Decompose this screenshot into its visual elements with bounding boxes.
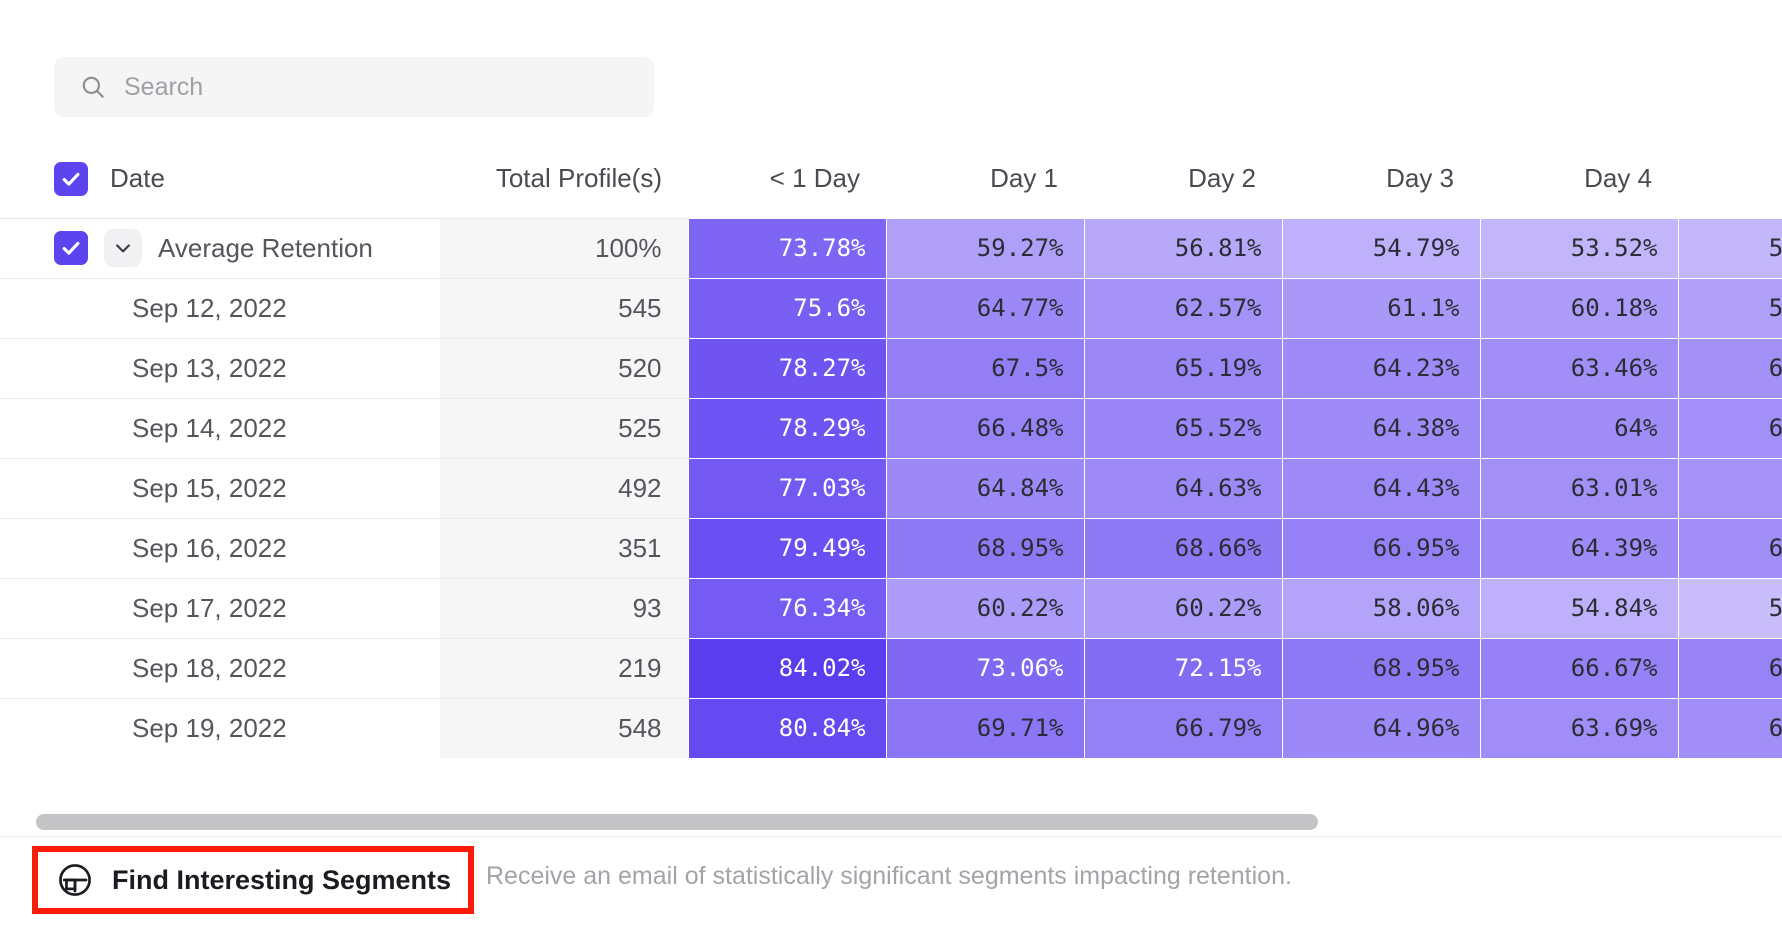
retention-cell[interactable]: 64.63%: [1084, 458, 1282, 518]
retention-table-screen: DateTotal Profile(s)< 1 DayDay 1Day 2Day…: [0, 0, 1782, 930]
table-body: Average Retention100%73.78%59.27%56.81%5…: [0, 218, 1782, 758]
select-all-checkbox[interactable]: [54, 162, 88, 196]
row-total-profiles-cell: 545: [440, 278, 688, 338]
retention-cell[interactable]: 58.06%: [1282, 578, 1480, 638]
row-total-profiles-cell: 492: [440, 458, 688, 518]
find-interesting-segments-button[interactable]: Find Interesting Segments: [56, 858, 451, 902]
retention-cell[interactable]: 64.84%: [886, 458, 1084, 518]
retention-cell[interactable]: 76.34%: [688, 578, 886, 638]
column-header-1-day[interactable]: < 1 Day: [688, 140, 886, 218]
row-date-cell: Sep 16, 2022: [0, 518, 440, 578]
retention-cell[interactable]: 73.78%: [688, 218, 886, 278]
retention-cell[interactable]: 79.49%: [688, 518, 886, 578]
retention-cell[interactable]: 61.1%: [1282, 278, 1480, 338]
find-interesting-segments-label: Find Interesting Segments: [112, 865, 451, 896]
row-total-profiles-cell: 351: [440, 518, 688, 578]
table-row[interactable]: Sep 15, 202249277.03%64.84%64.63%64.43%6…: [0, 458, 1782, 518]
retention-cell[interactable]: 54.84%: [1480, 578, 1678, 638]
retention-cell[interactable]: 64.77%: [886, 278, 1084, 338]
row-date-label: Sep 15, 2022: [54, 473, 287, 504]
row-date-label: Sep 17, 2022: [54, 593, 287, 624]
row-date-cell: Sep 19, 2022: [0, 698, 440, 758]
retention-cell[interactable]: 84.02%: [688, 638, 886, 698]
retention-cell[interactable]: 66.79%: [1084, 698, 1282, 758]
retention-cell[interactable]: 64.43%: [1282, 458, 1480, 518]
retention-cell[interactable]: 68.66%: [1084, 518, 1282, 578]
retention-cell[interactable]: 66.95%: [1282, 518, 1480, 578]
retention-cell[interactable]: 64.38%: [1282, 398, 1480, 458]
column-header-day-5[interactable]: Day 5: [1678, 140, 1782, 218]
retention-table-scroll-area[interactable]: DateTotal Profile(s)< 1 DayDay 1Day 2Day…: [0, 140, 1782, 812]
retention-cell[interactable]: 56.81%: [1084, 218, 1282, 278]
column-header-label: Date: [110, 163, 165, 194]
row-checkbox[interactable]: [54, 231, 88, 265]
row-total-profiles-cell: 93: [440, 578, 688, 638]
retention-cell[interactable]: 77.03%: [688, 458, 886, 518]
retention-cell[interactable]: 65.19%: [1084, 338, 1282, 398]
table-row[interactable]: Sep 16, 202235179.49%68.95%68.66%66.95%6…: [0, 518, 1782, 578]
column-header-day-1[interactable]: Day 1: [886, 140, 1084, 218]
table-row[interactable]: Sep 17, 20229376.34%60.22%60.22%58.06%54…: [0, 578, 1782, 638]
row-date-cell: Sep 12, 2022: [0, 278, 440, 338]
table-row[interactable]: Sep 18, 202221984.02%73.06%72.15%68.95%6…: [0, 638, 1782, 698]
row-total-profiles-cell: 548: [440, 698, 688, 758]
row-date-label: Sep 18, 2022: [54, 653, 287, 684]
row-date-label: Sep 14, 2022: [54, 413, 287, 444]
retention-cell[interactable]: 63.46%: [1480, 338, 1678, 398]
row-date-cell: Sep 13, 2022: [0, 338, 440, 398]
row-total-profiles-cell: 525: [440, 398, 688, 458]
retention-cell[interactable]: 63.32%: [1678, 698, 1782, 758]
table-row[interactable]: Sep 13, 202252078.27%67.5%65.19%64.23%63…: [0, 338, 1782, 398]
retention-cell[interactable]: 53.26%: [1678, 218, 1782, 278]
retention-cell[interactable]: 72.15%: [1084, 638, 1282, 698]
column-header-date: Date: [0, 140, 440, 218]
retention-cell[interactable]: 75.6%: [688, 278, 886, 338]
row-date-cell: Average Retention: [0, 218, 440, 278]
retention-cell[interactable]: 60.18%: [1480, 278, 1678, 338]
retention-cell[interactable]: 64.96%: [1282, 698, 1480, 758]
horizontal-scrollbar-thumb[interactable]: [36, 814, 1318, 830]
retention-cell[interactable]: 67.5%: [886, 338, 1084, 398]
row-date-label: Average Retention: [158, 233, 373, 264]
retention-cell[interactable]: 68.95%: [1282, 638, 1480, 698]
retention-cell[interactable]: 63.25%: [1678, 518, 1782, 578]
row-total-profiles-cell: 219: [440, 638, 688, 698]
chevron-down-icon[interactable]: [104, 229, 142, 267]
retention-cell[interactable]: 63.24%: [1678, 398, 1782, 458]
row-date-label: Sep 19, 2022: [54, 713, 287, 744]
footer-description: Receive an email of statistically signif…: [486, 862, 1292, 891]
table-row[interactable]: Average Retention100%73.78%59.27%56.81%5…: [0, 218, 1782, 278]
retention-cell[interactable]: 59.27%: [886, 218, 1084, 278]
column-header-day-4[interactable]: Day 4: [1480, 140, 1678, 218]
column-header-day-2[interactable]: Day 2: [1084, 140, 1282, 218]
row-date-cell: Sep 15, 2022: [0, 458, 440, 518]
retention-cell[interactable]: 73.06%: [886, 638, 1084, 698]
retention-cell[interactable]: 62.69%: [1678, 338, 1782, 398]
row-total-profiles-cell: 100%: [440, 218, 688, 278]
retention-cell[interactable]: 59.27%: [1678, 278, 1782, 338]
search-bar[interactable]: [54, 57, 654, 117]
row-date-cell: Sep 14, 2022: [0, 398, 440, 458]
table-row[interactable]: Sep 19, 202254880.84%69.71%66.79%64.96%6…: [0, 698, 1782, 758]
row-date-cell: Sep 18, 2022: [0, 638, 440, 698]
segments-icon: [56, 861, 94, 899]
retention-cell[interactable]: 60.22%: [886, 578, 1084, 638]
table-row[interactable]: Sep 14, 202252578.29%66.48%65.52%64.38%6…: [0, 398, 1782, 458]
retention-cell[interactable]: 66.67%: [1480, 638, 1678, 698]
table-header-row: DateTotal Profile(s)< 1 DayDay 1Day 2Day…: [0, 140, 1782, 218]
retention-cell[interactable]: 62.57%: [1084, 278, 1282, 338]
search-icon: [80, 74, 106, 100]
row-date-cell: Sep 17, 2022: [0, 578, 440, 638]
row-date-label: Sep 13, 2022: [54, 353, 287, 384]
retention-cell[interactable]: 51.61%: [1678, 578, 1782, 638]
retention-cell[interactable]: 64%: [1480, 398, 1678, 458]
retention-cell[interactable]: 68.95%: [886, 518, 1084, 578]
retention-cell[interactable]: 69.71%: [886, 698, 1084, 758]
retention-table: DateTotal Profile(s)< 1 DayDay 1Day 2Day…: [0, 140, 1782, 759]
table-row[interactable]: Sep 12, 202254575.6%64.77%62.57%61.1%60.…: [0, 278, 1782, 338]
column-header-total-profile-s[interactable]: Total Profile(s): [440, 140, 688, 218]
retention-cell[interactable]: 62.6%: [1678, 458, 1782, 518]
retention-cell[interactable]: 78.29%: [688, 398, 886, 458]
retention-cell[interactable]: 66.48%: [886, 398, 1084, 458]
retention-cell[interactable]: 63.69%: [1480, 698, 1678, 758]
retention-cell[interactable]: 66.21%: [1678, 638, 1782, 698]
retention-cell[interactable]: 63.01%: [1480, 458, 1678, 518]
retention-cell[interactable]: 65.52%: [1084, 398, 1282, 458]
retention-cell[interactable]: 64.39%: [1480, 518, 1678, 578]
retention-cell[interactable]: 64.23%: [1282, 338, 1480, 398]
retention-cell[interactable]: 53.52%: [1480, 218, 1678, 278]
row-date-label: Sep 12, 2022: [54, 293, 287, 324]
row-date-label: Sep 16, 2022: [54, 533, 287, 564]
retention-cell[interactable]: 78.27%: [688, 338, 886, 398]
table-header: DateTotal Profile(s)< 1 DayDay 1Day 2Day…: [0, 140, 1782, 218]
column-header-day-3[interactable]: Day 3: [1282, 140, 1480, 218]
retention-cell[interactable]: 54.79%: [1282, 218, 1480, 278]
retention-cell[interactable]: 60.22%: [1084, 578, 1282, 638]
retention-cell[interactable]: 80.84%: [688, 698, 886, 758]
search-input[interactable]: [106, 57, 654, 117]
row-total-profiles-cell: 520: [440, 338, 688, 398]
